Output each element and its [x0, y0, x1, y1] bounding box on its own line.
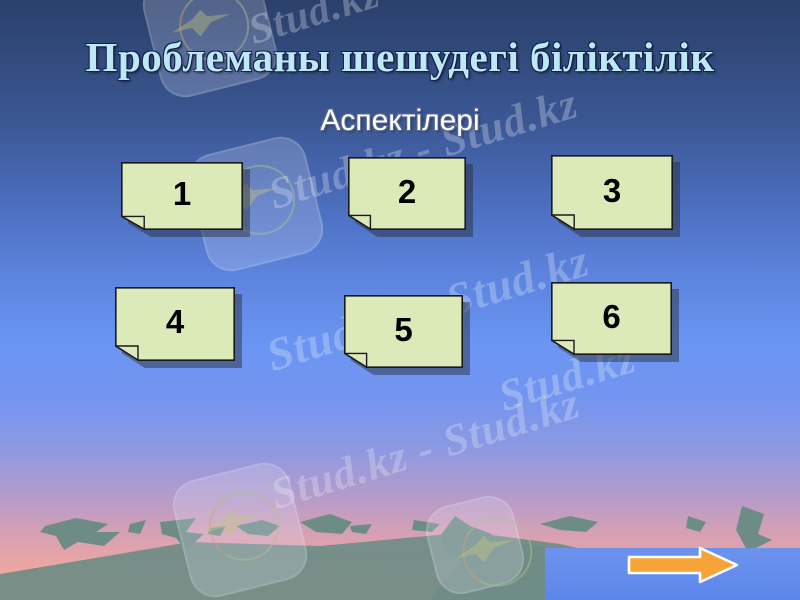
card-number: 2	[348, 157, 466, 230]
card-number: 1	[121, 162, 243, 230]
card-number: 5	[344, 295, 463, 368]
slide-title: Проблеманы шешудегі біліктілік	[0, 33, 800, 81]
card-number: 4	[115, 287, 235, 361]
aspect-card-6[interactable]: 6	[551, 282, 672, 355]
arrow-right-icon[interactable]	[626, 545, 740, 585]
aspect-card-5[interactable]: 5	[344, 295, 463, 368]
card-number: 3	[551, 155, 673, 230]
aspect-card-3[interactable]: 3	[551, 155, 673, 230]
card-number: 6	[551, 282, 672, 355]
aspect-card-4[interactable]: 4	[115, 287, 235, 361]
aspect-card-2[interactable]: 2	[348, 157, 466, 230]
presentation-slide: Stud.kz - Stud.kz Stud.kz - Stud.kz Stud…	[0, 0, 800, 600]
next-slide-arrow-button[interactable]	[626, 545, 740, 585]
slide-subtitle: Аспектілері	[0, 104, 800, 138]
aspect-card-1[interactable]: 1	[121, 162, 243, 230]
